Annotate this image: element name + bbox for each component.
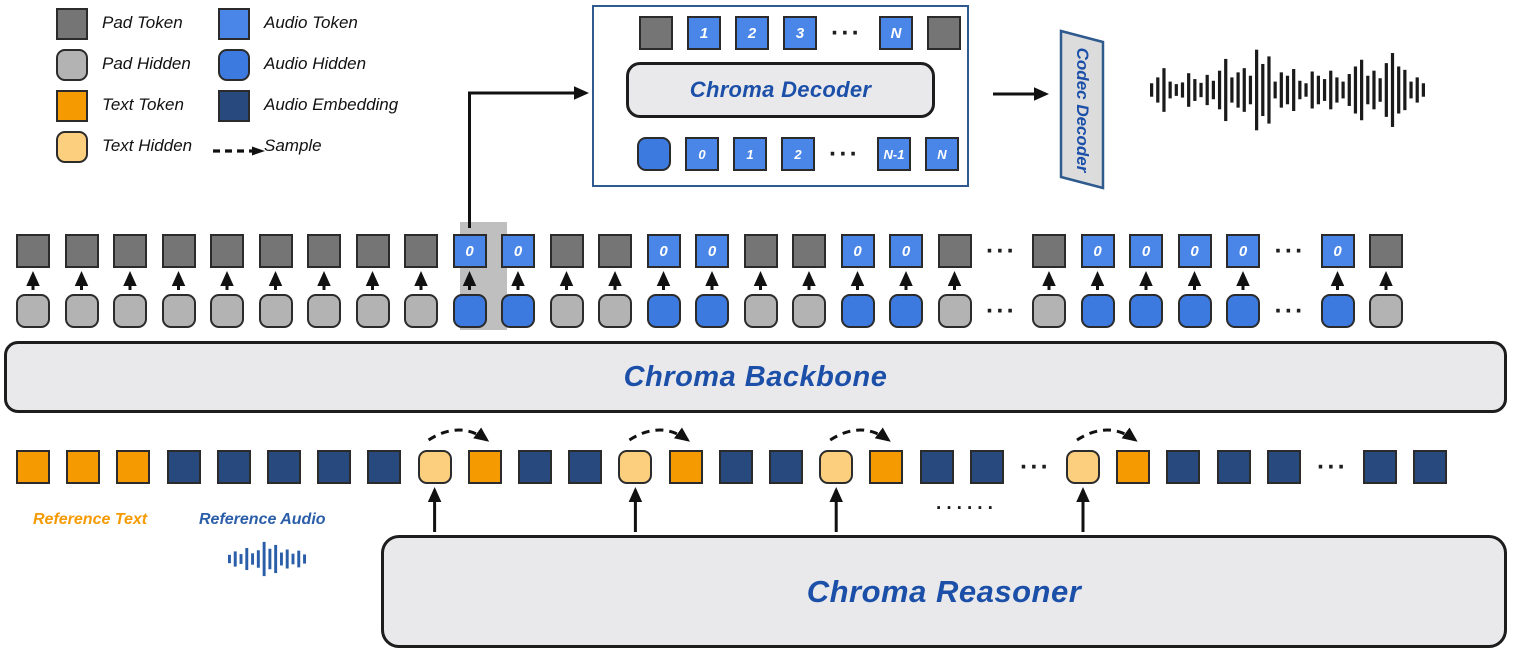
token-audio-embedding <box>1166 450 1200 484</box>
ellipsis: ··· <box>1275 239 1306 264</box>
token-audio-embedding <box>167 450 201 484</box>
token-text-token <box>869 450 903 484</box>
token-text-hidden <box>1066 450 1100 484</box>
chroma-decoder-block[interactable]: Chroma Decoder <box>626 62 935 118</box>
reference-audio-waveform <box>228 540 306 583</box>
token-audio-embedding <box>719 450 753 484</box>
token-pad-token <box>639 16 673 50</box>
token-audio-token: 0 <box>841 234 875 268</box>
legend-swatch-pad-token <box>56 8 88 40</box>
token-pad-hidden <box>744 294 778 328</box>
token-audio-embedding <box>367 450 401 484</box>
legend-label-pad-hidden: Pad Hidden <box>102 54 191 74</box>
token-audio-token: 0 <box>685 137 719 171</box>
token-audio-token: 0 <box>1226 234 1260 268</box>
token-pad-token <box>938 234 972 268</box>
ellipsis: ··· <box>986 299 1017 324</box>
token-audio-embedding <box>1217 450 1251 484</box>
token-pad-token <box>792 234 826 268</box>
token-pad-token <box>307 234 341 268</box>
chroma-decoder-label: Chroma Decoder <box>690 77 871 103</box>
token-text-token <box>669 450 703 484</box>
token-pad-hidden <box>792 294 826 328</box>
token-audio-token: 3 <box>783 16 817 50</box>
token-audio-embedding <box>920 450 954 484</box>
token-audio-embedding <box>1363 450 1397 484</box>
legend-label-sample: Sample <box>264 136 322 156</box>
token-pad-hidden <box>938 294 972 328</box>
reasoner-row-ellipsis: ······ <box>936 498 998 520</box>
token-pad-hidden <box>210 294 244 328</box>
reference-text-label: Reference Text <box>33 511 147 529</box>
token-audio-hidden <box>1129 294 1163 328</box>
token-pad-hidden <box>1032 294 1066 328</box>
token-audio-hidden <box>453 294 487 328</box>
token-pad-token <box>65 234 99 268</box>
token-audio-token: 0 <box>889 234 923 268</box>
token-pad-token <box>1032 234 1066 268</box>
token-pad-token <box>550 234 584 268</box>
legend-swatch-pad-hidden <box>56 49 88 81</box>
ellipsis: ··· <box>829 142 860 167</box>
token-pad-hidden <box>598 294 632 328</box>
token-text-token <box>16 450 50 484</box>
token-audio-embedding <box>267 450 301 484</box>
token-pad-token <box>598 234 632 268</box>
token-audio-embedding <box>970 450 1004 484</box>
token-text-hidden <box>418 450 452 484</box>
token-audio-hidden <box>1178 294 1212 328</box>
token-pad-token <box>210 234 244 268</box>
token-audio-token: 0 <box>1321 234 1355 268</box>
legend-row: Pad Token Audio Token <box>40 6 420 47</box>
token-audio-hidden <box>647 294 681 328</box>
legend-label-text-hidden: Text Hidden <box>102 136 192 156</box>
chroma-backbone-block[interactable]: Chroma Backbone <box>4 341 1507 413</box>
token-pad-hidden <box>307 294 341 328</box>
token-audio-token: N <box>879 16 913 50</box>
legend-label-audio-token: Audio Token <box>264 13 358 33</box>
ellipsis: ··· <box>831 21 862 46</box>
token-audio-token: 0 <box>1178 234 1212 268</box>
token-text-token <box>66 450 100 484</box>
token-audio-token: 0 <box>501 234 535 268</box>
ellipsis: ··· <box>1317 455 1348 480</box>
codec-decoder-block[interactable]: Codec Decoder <box>1055 28 1109 191</box>
legend-label-audio-hidden: Audio Hidden <box>264 54 366 74</box>
token-text-token <box>468 450 502 484</box>
token-pad-hidden <box>356 294 390 328</box>
token-pad-token <box>356 234 390 268</box>
token-audio-hidden <box>1321 294 1355 328</box>
token-pad-token <box>927 16 961 50</box>
token-pad-token <box>1369 234 1403 268</box>
token-pad-token <box>259 234 293 268</box>
token-audio-token: 2 <box>735 16 769 50</box>
chroma-reasoner-block[interactable]: Chroma Reasoner <box>381 535 1507 648</box>
token-audio-token: N-1 <box>877 137 911 171</box>
legend-row: Text Token Audio Embedding <box>40 88 420 129</box>
legend-swatch-audio-hidden <box>218 49 250 81</box>
token-audio-hidden <box>841 294 875 328</box>
token-audio-embedding <box>1413 450 1447 484</box>
token-pad-hidden <box>65 294 99 328</box>
token-audio-embedding <box>568 450 602 484</box>
token-audio-token: 2 <box>781 137 815 171</box>
token-pad-hidden <box>259 294 293 328</box>
token-audio-hidden <box>889 294 923 328</box>
ellipsis: ··· <box>1275 299 1306 324</box>
token-audio-token: 0 <box>453 234 487 268</box>
token-audio-token: 0 <box>695 234 729 268</box>
legend-swatch-text-token <box>56 90 88 122</box>
token-text-hidden <box>819 450 853 484</box>
token-pad-hidden <box>162 294 196 328</box>
legend-swatch-text-hidden <box>56 131 88 163</box>
token-pad-hidden <box>1369 294 1403 328</box>
ellipsis: ··· <box>986 239 1017 264</box>
token-audio-embedding <box>317 450 351 484</box>
codec-decoder-label: Codec Decoder <box>1072 47 1092 172</box>
token-text-hidden <box>618 450 652 484</box>
legend: Pad Token Audio Token Pad Hidden Audio H… <box>40 6 420 170</box>
token-pad-hidden <box>16 294 50 328</box>
token-audio-hidden <box>695 294 729 328</box>
legend-label-pad-token: Pad Token <box>102 13 183 33</box>
legend-swatch-audio-token <box>218 8 250 40</box>
token-audio-token: 1 <box>733 137 767 171</box>
legend-label-text-token: Text Token <box>102 95 184 115</box>
token-pad-token <box>744 234 778 268</box>
chroma-reasoner-label: Chroma Reasoner <box>807 574 1082 610</box>
token-audio-token: 0 <box>1081 234 1115 268</box>
token-audio-embedding <box>518 450 552 484</box>
token-pad-hidden <box>113 294 147 328</box>
legend-row: Pad Hidden Audio Hidden <box>40 47 420 88</box>
token-pad-hidden <box>404 294 438 328</box>
token-pad-hidden <box>550 294 584 328</box>
token-audio-token: N <box>925 137 959 171</box>
token-pad-token <box>113 234 147 268</box>
token-pad-token <box>404 234 438 268</box>
token-audio-embedding <box>769 450 803 484</box>
ellipsis: ··· <box>1020 455 1051 480</box>
token-text-token <box>116 450 150 484</box>
token-audio-token: 1 <box>687 16 721 50</box>
legend-row: Text Hidden Sample <box>40 129 420 170</box>
token-audio-token: 0 <box>647 234 681 268</box>
chroma-backbone-label: Chroma Backbone <box>624 361 888 394</box>
token-audio-token: 0 <box>1129 234 1163 268</box>
dashed-arrow-icon <box>212 145 270 157</box>
token-text-token <box>1116 450 1150 484</box>
output-audio-waveform <box>1150 48 1425 137</box>
reference-audio-label: Reference Audio <box>199 511 326 529</box>
legend-label-audio-embedding: Audio Embedding <box>264 95 398 115</box>
token-pad-token <box>16 234 50 268</box>
token-audio-embedding <box>217 450 251 484</box>
legend-swatch-audio-embedding <box>218 90 250 122</box>
token-pad-token <box>162 234 196 268</box>
token-audio-embedding <box>1267 450 1301 484</box>
token-audio-hidden <box>1226 294 1260 328</box>
token-audio-hidden <box>1081 294 1115 328</box>
token-audio-hidden <box>501 294 535 328</box>
token-audio-hidden <box>637 137 671 171</box>
